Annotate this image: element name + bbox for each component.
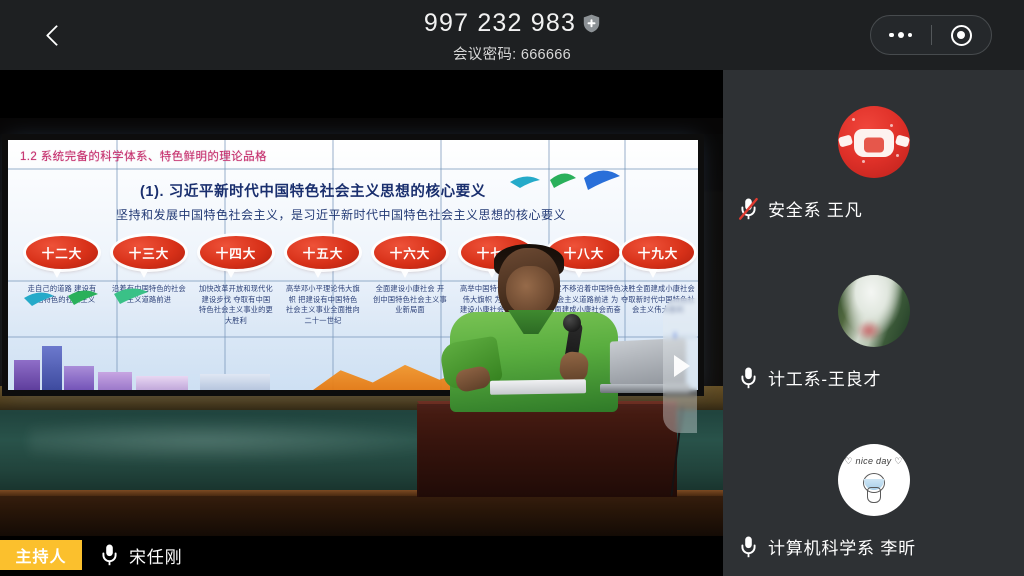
congress-badge: 十四大 xyxy=(200,236,272,269)
landscape-photo-avatar xyxy=(838,275,910,347)
more-dots-icon xyxy=(889,32,912,38)
slide-bird-art xyxy=(22,282,172,316)
meeting-screen: 997 232 983 会议密码: 666666 xyxy=(0,0,1024,576)
chevron-left-icon xyxy=(45,24,66,45)
congress-column-text: 高举邓小平理论伟大旗帜 把建设有中国特色社会主义事业全面推向二十一世纪 xyxy=(286,284,360,326)
microphone-icon xyxy=(739,535,758,559)
host-label-strip: 主持人 宋任刚 xyxy=(0,534,723,576)
congress-badge: 十二大 xyxy=(26,236,98,269)
congress-badge: 十三大 xyxy=(113,236,185,269)
meeting-id: 997 232 983 xyxy=(424,8,576,38)
participant-label: 计算机科学系 李昕 xyxy=(739,534,916,559)
podium xyxy=(417,401,677,497)
participant-name: 安全系 王凡 xyxy=(768,196,863,221)
host-role-badge: 主持人 xyxy=(0,540,82,570)
meeting-id-row: 997 232 983 xyxy=(424,8,600,38)
slide-heading: (1). 习近平新时代中国特色社会主义思想的核心要义 xyxy=(140,180,486,201)
congress-badge: 十九大 xyxy=(622,236,694,269)
collapse-sidebar-handle[interactable] xyxy=(663,298,697,433)
avatar: ♡ nice day ♡ xyxy=(838,444,910,516)
congress-badge: 十五大 xyxy=(287,236,359,269)
nice-day-doodle-avatar: ♡ nice day ♡ xyxy=(838,444,910,516)
red-cartoon-avatar xyxy=(838,106,910,178)
microphone-icon xyxy=(739,366,758,390)
participant-sidebar[interactable]: 安全系 王凡 计工系-王良才 xyxy=(723,70,1024,576)
host-name: 宋任刚 xyxy=(129,543,182,568)
shared-video-feed: 1.2 系统完备的科学体系、特色鲜明的理论品格 (1). 习近平新时代中国特色社… xyxy=(0,118,723,536)
handheld-microphone-head xyxy=(563,314,581,332)
back-button[interactable] xyxy=(38,17,74,53)
slide-subheading: 坚持和发展中国特色社会主义，是习近平新时代中国特色社会主义思想的核心要义 xyxy=(116,206,566,223)
presenter-face xyxy=(506,266,554,316)
shield-lock-icon xyxy=(583,14,600,33)
desk-papers xyxy=(490,379,586,395)
app-header: 997 232 983 会议密码: 666666 xyxy=(0,0,1024,70)
host-mic-status: 宋任刚 xyxy=(100,543,182,568)
avatar xyxy=(838,275,910,347)
participant-label: 安全系 王凡 xyxy=(739,196,863,221)
participant-tile[interactable]: ♡ nice day ♡ 计算机科学系 李昕 xyxy=(723,408,1024,576)
miniprogram-capsule[interactable] xyxy=(870,15,992,55)
avatar xyxy=(838,106,910,178)
microphone-muted-icon xyxy=(739,197,758,221)
microphone-icon xyxy=(100,543,119,567)
video-stage[interactable]: 1.2 系统完备的科学体系、特色鲜明的理论品格 (1). 习近平新时代中国特色社… xyxy=(0,70,723,576)
participant-label: 计工系-王良才 xyxy=(739,365,881,390)
hall-wall xyxy=(0,118,723,134)
participant-name: 计工系-王良才 xyxy=(768,365,881,390)
capsule-target-icon xyxy=(951,25,972,46)
more-menu-button[interactable] xyxy=(871,16,931,54)
play-triangle-icon xyxy=(674,355,690,377)
slide-bird-art xyxy=(506,164,626,204)
participant-tile[interactable]: 安全系 王凡 xyxy=(723,70,1024,239)
congress-column-text: 加快改革开放和现代化建设步伐 夺取有中国特色社会主义事业的更大胜利 xyxy=(199,284,273,326)
chalkboard-smudge xyxy=(29,418,463,464)
participant-name: 计算机科学系 李昕 xyxy=(768,534,916,559)
participant-tile[interactable]: 计工系-王良才 xyxy=(723,239,1024,408)
close-miniprogram-button[interactable] xyxy=(932,16,992,54)
avatar-caption: ♡ nice day ♡ xyxy=(844,456,902,467)
slide-section-title: 1.2 系统完备的科学体系、特色鲜明的理论品格 xyxy=(20,148,267,164)
